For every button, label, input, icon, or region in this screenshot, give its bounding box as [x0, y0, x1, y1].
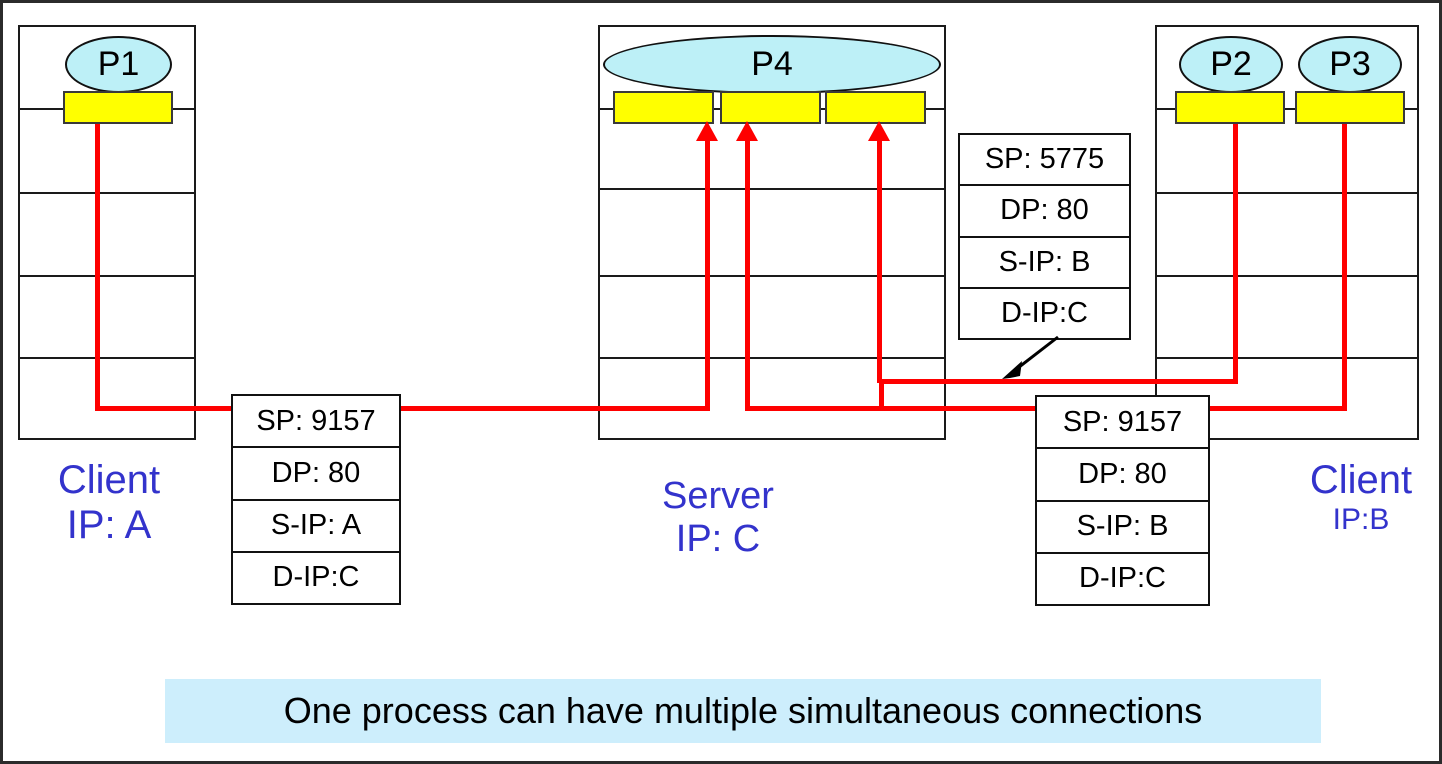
wire-arrowhead-server-sock3 [868, 121, 890, 141]
packet-field-sip: S-IP: A [233, 501, 399, 553]
stack-divider [20, 192, 194, 194]
packet-field-dp: DP: 80 [960, 186, 1129, 237]
wire-arrowhead-server-sock1 [696, 121, 718, 141]
wire-p3-vertical [1342, 103, 1347, 411]
stack-divider [1157, 192, 1417, 194]
process-ellipse-p3: P3 [1298, 36, 1402, 93]
stack-divider [600, 188, 944, 190]
packet-field-dp: DP: 80 [1037, 449, 1208, 501]
socket-box-p4-1 [613, 91, 714, 124]
wire-server-sock1-vertical [705, 131, 710, 411]
process-ellipse-p1: P1 [65, 36, 172, 93]
packet-header-p2-lower: SP: 9157 DP: 80 S-IP: B D-IP:C [1035, 395, 1210, 606]
host-caption-client-a: Client IP: A [19, 458, 199, 548]
packet-field-sp: SP: 5775 [960, 135, 1129, 186]
host-ip-label: IP:B [1281, 503, 1441, 537]
packet-field-sp: SP: 9157 [1037, 397, 1208, 449]
packet-field-dip: D-IP:C [1037, 554, 1208, 604]
packet-field-sp: SP: 9157 [233, 396, 399, 448]
stack-divider [20, 275, 194, 277]
packet-field-sip: S-IP: B [960, 238, 1129, 289]
socket-box-p4-2 [720, 91, 821, 124]
packet-field-dip: D-IP:C [960, 289, 1129, 338]
host-role-label: Server [623, 475, 813, 518]
host-ip-label: IP: C [623, 518, 813, 561]
wire-p1-horizontal [95, 406, 710, 411]
stack-divider [1157, 275, 1417, 277]
packet-field-dp: DP: 80 [233, 448, 399, 500]
host-role-label: Client [1281, 458, 1441, 503]
process-label: P2 [1210, 45, 1252, 84]
process-label: P3 [1329, 45, 1371, 84]
summary-banner: One process can have multiple simultaneo… [165, 679, 1321, 743]
packet-field-sip: S-IP: B [1037, 502, 1208, 554]
wire-server-sock3-vertical [877, 131, 882, 383]
stack-divider [1157, 357, 1417, 359]
host-ip-label: IP: A [19, 503, 199, 548]
wire-server-sock2-vertical [745, 131, 750, 411]
stack-divider [600, 357, 944, 359]
packet-field-dip: D-IP:C [233, 553, 399, 603]
stack-divider [20, 357, 194, 359]
socket-box-p2 [1175, 91, 1285, 124]
summary-banner-text: One process can have multiple simultaneo… [284, 690, 1203, 732]
socket-box-p1 [63, 91, 173, 124]
packet-header-p3-upper: SP: 5775 DP: 80 S-IP: B D-IP:C [958, 133, 1131, 340]
stack-divider [600, 275, 944, 277]
host-caption-server-c: Server IP: C [623, 475, 813, 560]
socket-box-p4-3 [825, 91, 926, 124]
process-ellipse-p2: P2 [1179, 36, 1283, 93]
annotation-arrow-icon [988, 333, 1063, 385]
socket-box-p3 [1295, 91, 1405, 124]
wire-p2-vertical [1233, 103, 1238, 384]
process-label: P1 [98, 45, 140, 84]
diagram-canvas: P1 P4 P2 P3 SP: 915 [0, 0, 1442, 764]
host-caption-client-b: Client IP:B [1281, 458, 1441, 536]
wire-p1-vertical [95, 103, 100, 411]
wire-arrowhead-server-sock2 [736, 121, 758, 141]
process-label: P4 [751, 45, 793, 84]
process-ellipse-p4: P4 [603, 35, 941, 94]
packet-header-client-a: SP: 9157 DP: 80 S-IP: A D-IP:C [231, 394, 401, 605]
host-role-label: Client [19, 458, 199, 503]
